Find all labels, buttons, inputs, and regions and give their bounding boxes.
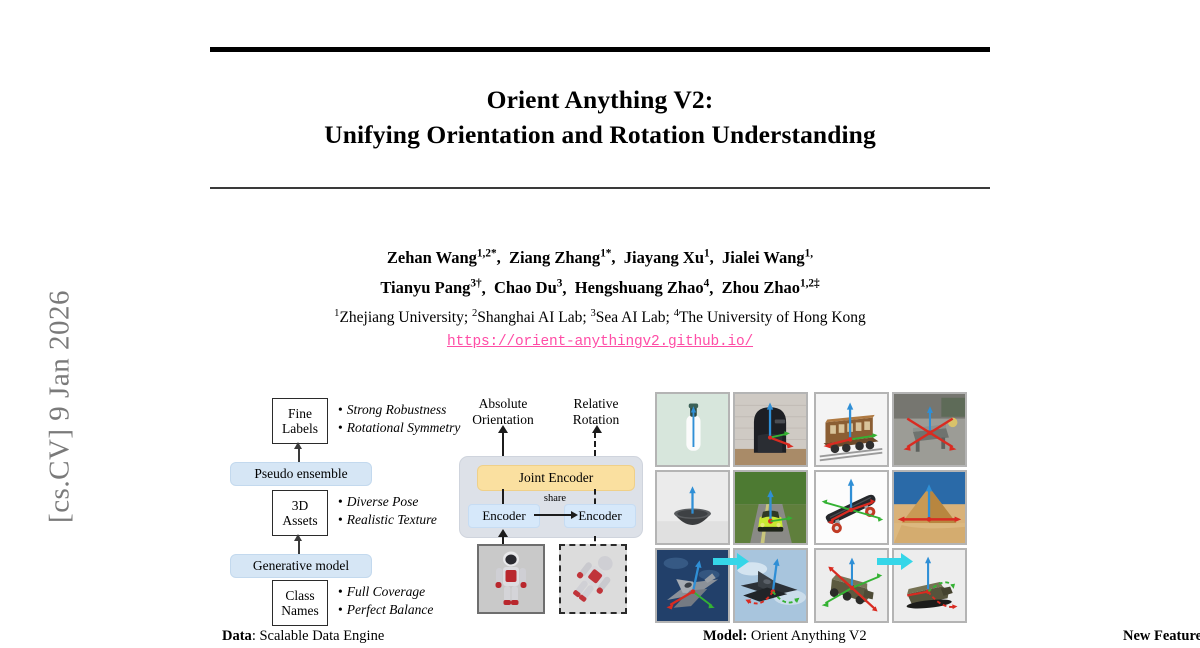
arrow-share: [534, 514, 572, 516]
cell-backpack[interactable]: [733, 392, 808, 467]
box-fine-labels: Fine Labels: [272, 398, 328, 444]
stool-illustration: [894, 394, 965, 465]
author-name: Hengshuang Zhao4: [575, 278, 709, 297]
author-name: Jiayang Xu1: [624, 248, 710, 267]
label-share: share: [532, 493, 578, 504]
paper-page: [cs.CV] 9 Jan 2026 Orient Anything V2: U…: [0, 0, 1200, 648]
author-affil-marker: 1,: [805, 247, 813, 259]
robot-figure-rotated-icon: [569, 552, 617, 606]
robot-figure-icon: [489, 551, 533, 607]
author-name: Jialei Wang1,: [722, 248, 813, 267]
joint-model-panel: Joint Encoder Encoder Encoder share: [459, 456, 643, 538]
pill-pseudo-ensemble: Pseudo ensemble: [230, 462, 372, 486]
author-affil-marker: 1*: [600, 247, 611, 259]
author-name: Zehan Wang1,2*: [387, 248, 497, 267]
image-grid-left-group: [655, 392, 808, 623]
arxiv-stamp: [cs.CV] 9 Jan 2026: [44, 197, 77, 617]
author-name: Tianyu Pang3†: [380, 278, 481, 297]
cell-military-truck[interactable]: [814, 548, 889, 623]
cell-military-truck-rotated[interactable]: [892, 548, 967, 623]
author-name: Chao Du3: [494, 278, 562, 297]
cell-pyramid[interactable]: [892, 470, 967, 545]
header-rule-thin: [210, 187, 990, 189]
bowl-illustration: [657, 472, 728, 543]
thumb-robot-canonical: [477, 544, 545, 614]
author-block: Zehan Wang1,2*, Ziang Zhang1*, Jiayang X…: [210, 240, 990, 350]
caption-data-engine: Data: Scalable Data Engine: [222, 628, 384, 645]
fighter-jet-illustration: [657, 550, 728, 621]
author-affil-marker: 3: [557, 278, 563, 290]
military-truck-rotated-illustration: [894, 550, 965, 621]
affil-name: The University of Hong Kong: [679, 309, 866, 326]
cell-train-carriage[interactable]: [814, 392, 889, 467]
line-enc-to-joint-right: [594, 489, 596, 504]
bullets-class-names: Full Coverage Perfect Balance: [338, 583, 433, 619]
affil-name: Sea AI Lab;: [596, 309, 670, 326]
thumb-robot-rotated: [559, 544, 627, 614]
author-line-2: Tianyu Pang3†, Chao Du3, Hengshuang Zhao…: [210, 271, 990, 302]
author-affil-marker: 1,2*: [477, 247, 497, 259]
line-enc-to-joint-left: [502, 489, 504, 504]
author-affil-marker: 4: [704, 278, 710, 290]
image-grid-right-group: [814, 392, 967, 623]
author-line-1: Zehan Wang1,2*, Ziang Zhang1*, Jiayang X…: [210, 240, 990, 271]
box-class-names: Class Names: [272, 580, 328, 626]
box-3d-assets: 3D Assets: [272, 490, 328, 536]
backpack-illustration: [735, 394, 806, 465]
cell-water-bottle[interactable]: [655, 392, 730, 467]
model-diagram: Absolute Orientation Relative Rotation J…: [455, 392, 645, 624]
author-affil-marker: 1: [704, 247, 710, 259]
features-grid: New Features: Symmetry & Rotation: [655, 392, 975, 624]
skateboard-illustration: [816, 472, 887, 543]
pill-generative-model: Generative model: [230, 554, 372, 578]
military-truck-illustration: [816, 550, 887, 621]
title-line-2: Unifying Orientation and Rotation Unders…: [210, 117, 990, 152]
data-engine-diagram: Fine Labels Strong Robustness Rotational…: [210, 392, 450, 624]
block-encoder-left: Encoder: [468, 504, 540, 528]
affil-name: Shanghai AI Lab;: [477, 309, 586, 326]
cell-fighter-jet[interactable]: [655, 548, 730, 623]
block-joint-encoder: Joint Encoder: [477, 465, 635, 491]
title-line-1: Orient Anything V2:: [210, 82, 990, 117]
arrow-to-3d-assets: [298, 540, 300, 554]
arrow-to-fine-labels: [298, 448, 300, 462]
teaser-figure: Fine Labels Strong Robustness Rotational…: [210, 392, 990, 644]
cell-bowl[interactable]: [655, 470, 730, 545]
project-url-link[interactable]: https://orient-anythingv2.github.io/: [210, 334, 990, 350]
author-affil-marker: 3†: [470, 278, 481, 290]
author-affil-marker: 1,2‡: [800, 278, 820, 290]
water-bottle-illustration: [657, 394, 728, 465]
image-grid-wrapper: [655, 392, 967, 623]
author-name: Ziang Zhang1*: [509, 248, 611, 267]
page-title: Orient Anything V2: Unifying Orientation…: [210, 82, 990, 152]
sports-car-illustration: [735, 472, 806, 543]
pyramid-illustration: [894, 472, 965, 543]
affil-name: Zhejiang University;: [339, 309, 468, 326]
bullets-fine-labels: Strong Robustness Rotational Symmetry: [338, 401, 460, 437]
arrow-absolute-output: [502, 432, 504, 456]
caption-model: Model: Orient Anything V2: [703, 628, 867, 645]
train-carriage-illustration: [816, 394, 887, 465]
author-name: Zhou Zhao1,2‡: [722, 278, 820, 297]
cell-fighter-jet-rotated[interactable]: [733, 548, 808, 623]
cell-stool[interactable]: [892, 392, 967, 467]
caption-new-features: New Features: Symmetry & Rotation: [1123, 628, 1200, 645]
cell-skateboard[interactable]: [814, 470, 889, 545]
bullets-3d-assets: Diverse Pose Realistic Texture: [338, 493, 437, 529]
label-relative-rotation: Relative Rotation: [551, 396, 641, 428]
label-absolute-orientation: Absolute Orientation: [458, 396, 548, 428]
affiliation-line: 1Zhejiang University; 2Shanghai AI Lab; …: [210, 301, 990, 330]
header-rule-thick: [210, 47, 990, 52]
arrow-relative-output: [594, 432, 596, 456]
cell-sports-car[interactable]: [733, 470, 808, 545]
fighter-jet-rotated-illustration: [735, 550, 806, 621]
